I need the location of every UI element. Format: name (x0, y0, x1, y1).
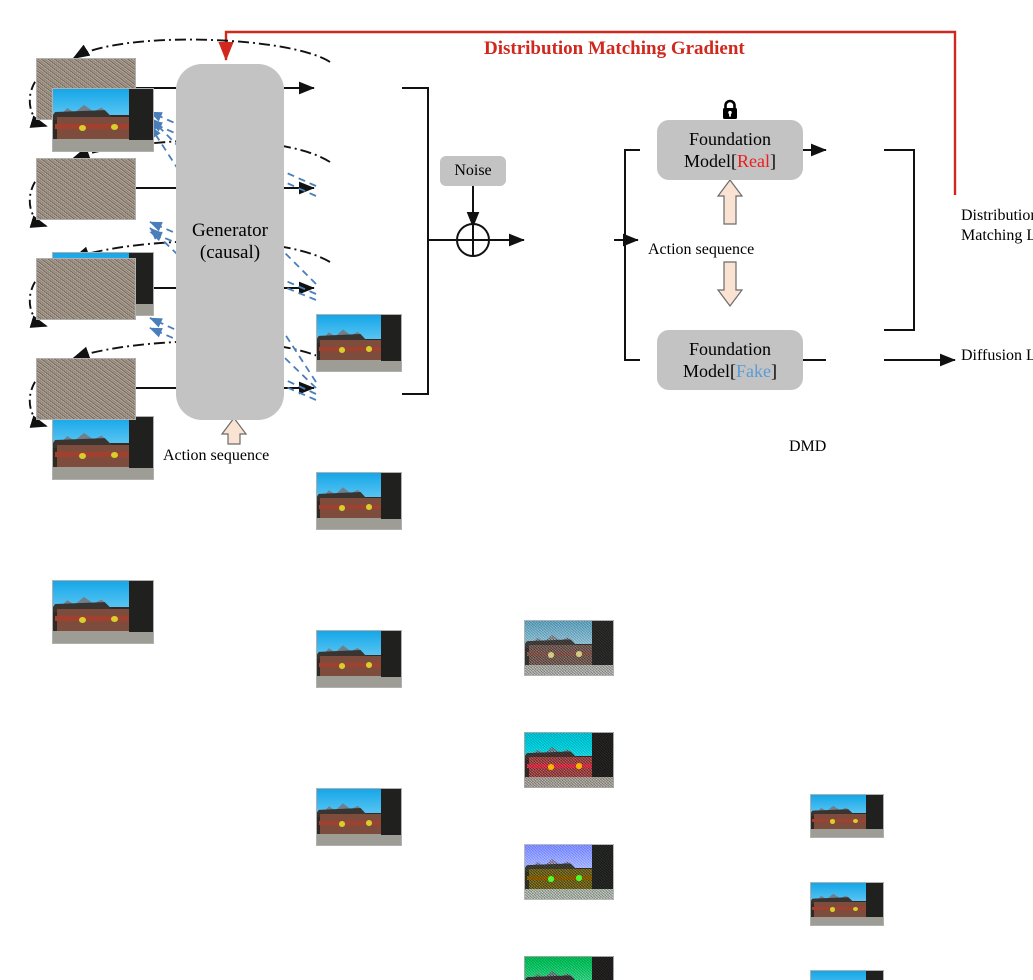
noisy-frame (524, 844, 614, 900)
foundation-real-line1: Foundation (689, 128, 771, 151)
diffusion-loss-label: Diffusion Loss (961, 346, 1033, 366)
distribution-matching-gradient-label: Distribution Matching Gradient (484, 38, 745, 60)
real-output-frame (810, 882, 884, 926)
noisy-frame (524, 620, 614, 676)
dmd-label: DMD (789, 437, 826, 457)
noisy-frame (524, 732, 614, 788)
generator-label-line1: Generator (192, 220, 268, 242)
connector-layer (0, 0, 1033, 490)
input-noise-patch (36, 358, 136, 420)
dm-loss-line1: Distribution (961, 206, 1033, 226)
action-arrow-down-dmd (718, 262, 742, 306)
foundation-fake-highlight: Fake (736, 361, 771, 381)
generator-label-line2: (causal) (200, 242, 260, 264)
foundation-fake-suffix: ] (771, 361, 777, 381)
input-reference-photo (52, 580, 154, 644)
foundation-fake-line1: Foundation (689, 338, 771, 361)
input-reference-photo (52, 416, 154, 480)
foundation-real-line2: Model[Real] (684, 150, 776, 173)
dm-loss-bracket (884, 150, 914, 330)
action-sequence-generator-label: Action sequence (163, 446, 269, 466)
dm-loss-line2: Matching Loss (961, 226, 1033, 246)
foundation-fake-prefix: Model[ (683, 361, 736, 381)
input-noise-patch (36, 158, 136, 220)
noise-block[interactable]: Noise (440, 156, 506, 186)
foundation-real-suffix: ] (770, 151, 776, 171)
generated-frame (316, 314, 402, 372)
action-arrow-up-dmd (718, 180, 742, 224)
input-noise-patch (36, 258, 136, 320)
action-sequence-dmd-label: Action sequence (648, 240, 754, 260)
foundation-model-real-block[interactable]: Foundation Model[Real] (657, 120, 803, 180)
noise-label: Noise (454, 162, 491, 180)
diagram-canvas: Generator (causal) Action sequence Noise (0, 0, 1033, 490)
real-output-frame (810, 970, 884, 980)
generated-frame (316, 630, 402, 688)
foundation-real-highlight: Real (737, 151, 770, 171)
generated-merge-bus (402, 88, 456, 394)
foundation-fake-line2: Model[Fake] (683, 360, 777, 383)
generated-frame (316, 472, 402, 530)
generator-block[interactable]: Generator (causal) (176, 64, 284, 420)
foundation-real-prefix: Model[ (684, 151, 737, 171)
input-reference-photo (52, 88, 154, 152)
real-output-frame (810, 794, 884, 838)
generated-frame (316, 788, 402, 846)
action-arrow-generator (222, 418, 246, 444)
noisy-to-foundation-bracket (614, 150, 640, 360)
noisy-frame (524, 956, 614, 980)
circle-plus-icon (457, 224, 489, 256)
lock-icon (718, 98, 742, 122)
foundation-model-fake-block[interactable]: Foundation Model[Fake] (657, 330, 803, 390)
distribution-matching-loss-label: Distribution Matching Loss (961, 206, 1033, 245)
